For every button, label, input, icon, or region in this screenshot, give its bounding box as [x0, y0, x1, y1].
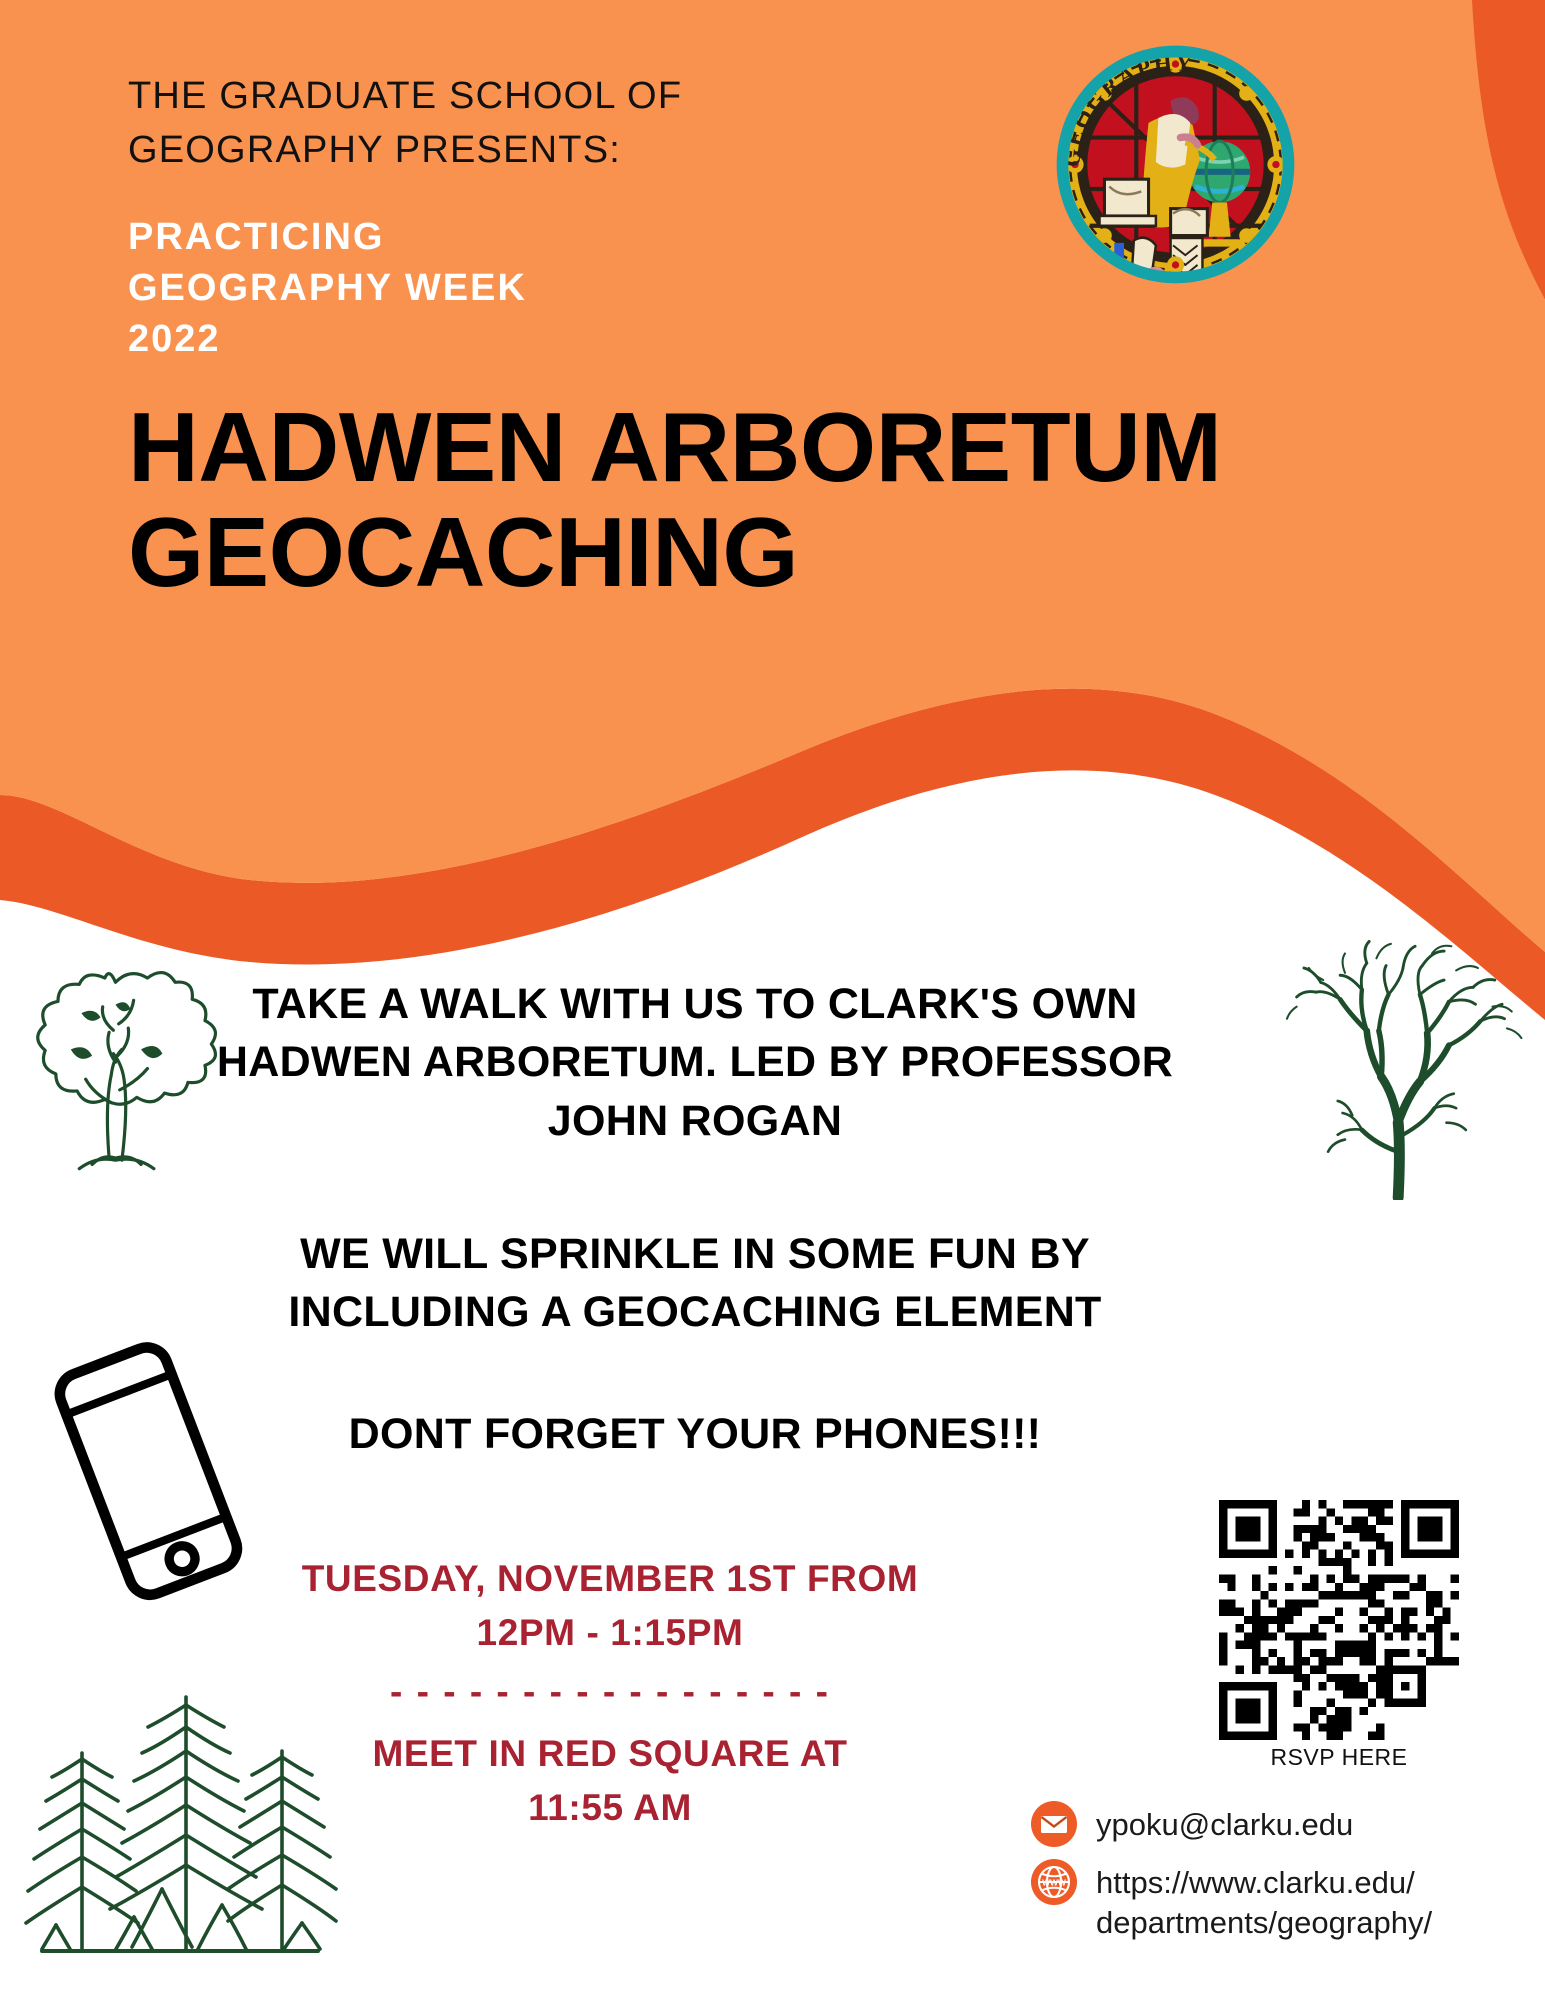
event-divider: - - - - - - - - - - - - - - - - -: [290, 1665, 930, 1719]
series-line-2: GEOGRAPHY WEEK: [128, 263, 828, 314]
qr-code[interactable]: [1208, 1500, 1470, 1740]
qr-block[interactable]: RSVP HERE: [1208, 1500, 1470, 1771]
presents-line-2: GEOGRAPHY PRESENTS:: [128, 124, 828, 178]
envelope-icon: [1030, 1800, 1078, 1848]
page-title: HADWEN ARBORETUM GEOCACHING: [128, 395, 1428, 605]
event-date-line: TUESDAY, NOVEMBER 1ST FROM: [290, 1552, 930, 1606]
body-paragraph-3: DONT FORGET YOUR PHONES!!!: [180, 1405, 1210, 1463]
bare-tree-illustration: [1278, 910, 1528, 1200]
event-details: TUESDAY, NOVEMBER 1ST FROM 12PM - 1:15PM…: [290, 1552, 930, 1834]
contact-website-text[interactable]: https://www.clarku.edu/ departments/geog…: [1096, 1858, 1432, 1942]
contact-row-website[interactable]: WWW https://www.clarku.edu/ departments/…: [1030, 1858, 1530, 1942]
series-line-3: 2022: [128, 314, 828, 365]
body-paragraph-1: TAKE A WALK WITH US TO CLARK'S OWN HADWE…: [180, 975, 1210, 1150]
event-meet-time-line: 11:55 AM: [290, 1781, 930, 1835]
header-block: THE GRADUATE SCHOOL OF GEOGRAPHY PRESENT…: [128, 70, 828, 365]
title-line-2: GEOCACHING: [128, 500, 1428, 605]
event-time-line: 12PM - 1:15PM: [290, 1606, 930, 1660]
poster-canvas: THE GRADUATE SCHOOL OF GEOGRAPHY PRESENT…: [0, 0, 1545, 2000]
presents-line-1: THE GRADUATE SCHOOL OF: [128, 70, 828, 124]
title-line-1: HADWEN ARBORETUM: [128, 395, 1428, 500]
contact-row-email[interactable]: ypoku@clarku.edu: [1030, 1800, 1530, 1848]
globe-www-icon: WWW: [1030, 1858, 1078, 1906]
contact-email-text[interactable]: ypoku@clarku.edu: [1096, 1800, 1353, 1845]
body-paragraph-2: WE WILL SPRINKLE IN SOME FUN BY INCLUDIN…: [180, 1225, 1210, 1342]
contact-list: ypoku@clarku.edu WWW https://www.clarku.…: [1030, 1800, 1530, 1952]
svg-text:WWW: WWW: [1042, 1877, 1066, 1887]
geography-stained-glass-medallion-logo: GEOGRAPHY: [1053, 42, 1298, 287]
event-location-line: MEET IN RED SQUARE AT: [290, 1727, 930, 1781]
smartphone-illustration: [28, 1335, 268, 1605]
qr-caption: RSVP HERE: [1208, 1744, 1470, 1771]
series-line-1: PRACTICING: [128, 212, 828, 263]
